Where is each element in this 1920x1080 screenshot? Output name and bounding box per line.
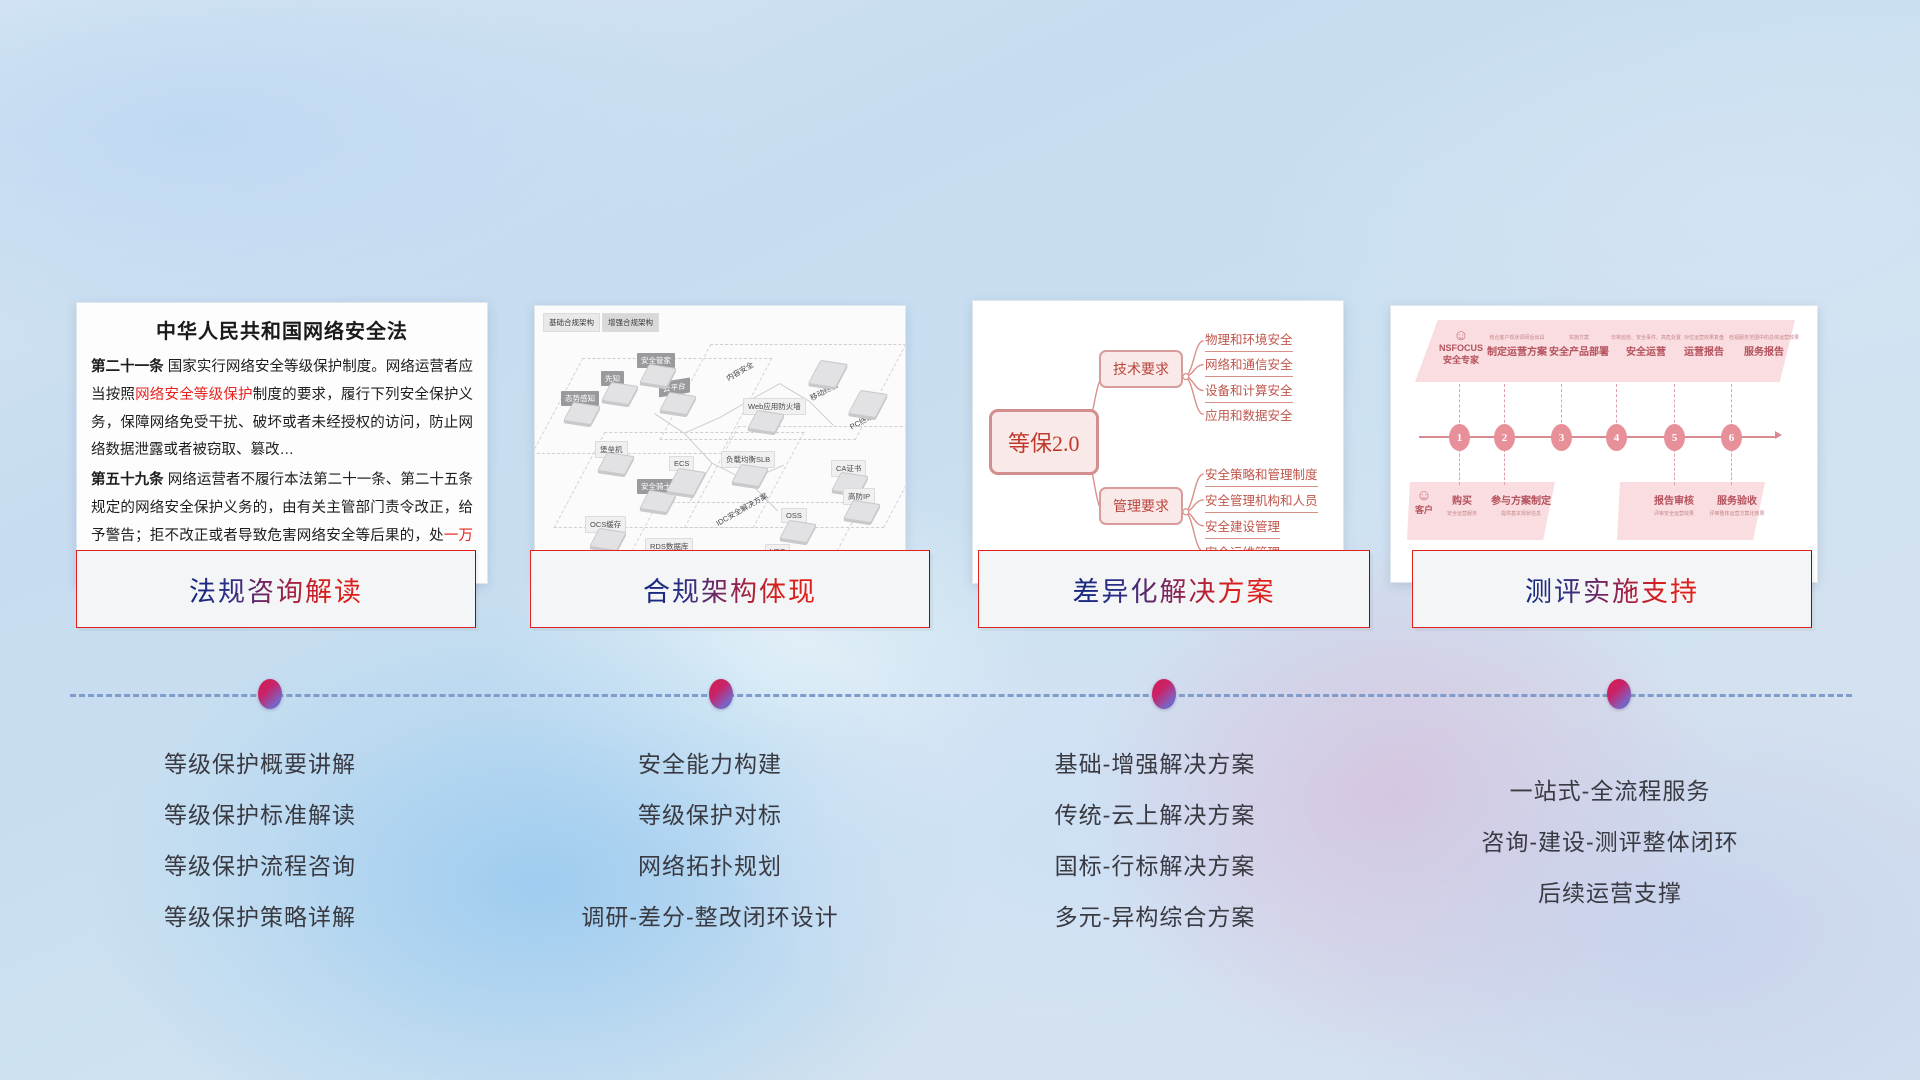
list-item: 等级保护对标	[520, 804, 900, 827]
heading-label-3: 差异化解决方案	[1073, 570, 1276, 609]
detail-column-1: 等级保护概要讲解 等级保护标准解读 等级保护流程咨询 等级保护策略详解	[80, 753, 440, 957]
list-item: 网络拓扑规划	[520, 855, 900, 878]
heading-label-4: 测评实施支持	[1525, 570, 1699, 609]
list-item: 传统-云上解决方案	[965, 804, 1345, 827]
list-item: 等级保护策略详解	[80, 906, 440, 929]
list-item: 后续运营支撑	[1405, 882, 1815, 905]
list-item: 一站式-全流程服务	[1405, 780, 1815, 803]
track-dot-3[interactable]	[1152, 679, 1176, 709]
list-item: 等级保护流程咨询	[80, 855, 440, 878]
timeline-dashed-track	[70, 694, 1852, 697]
list-item: 咨询-建设-测评整体闭环	[1405, 831, 1815, 854]
heading-box-regulation-consulting[interactable]: 法规咨询解读	[76, 550, 476, 628]
list-item: 等级保护标准解读	[80, 804, 440, 827]
track-dot-2[interactable]	[709, 679, 733, 709]
heading-box-differentiated-solution[interactable]: 差异化解决方案	[978, 550, 1370, 628]
track-dot-4[interactable]	[1607, 679, 1631, 709]
detail-column-2: 安全能力构建 等级保护对标 网络拓扑规划 调研-差分-整改闭环设计	[520, 753, 900, 957]
list-item: 基础-增强解决方案	[965, 753, 1345, 776]
heading-label-1: 法规咨询解读	[189, 570, 363, 609]
list-item: 安全能力构建	[520, 753, 900, 776]
heading-box-compliance-architecture[interactable]: 合规架构体现	[530, 550, 930, 628]
list-item: 多元-异构综合方案	[965, 906, 1345, 929]
list-item: 等级保护概要讲解	[80, 753, 440, 776]
detail-column-4: 一站式-全流程服务 咨询-建设-测评整体闭环 后续运营支撑	[1405, 780, 1815, 933]
track-dot-1[interactable]	[258, 679, 282, 709]
heading-box-assessment-support[interactable]: 测评实施支持	[1412, 550, 1812, 628]
list-item: 调研-差分-整改闭环设计	[520, 906, 900, 929]
detail-column-3: 基础-增强解决方案 传统-云上解决方案 国标-行标解决方案 多元-异构综合方案	[965, 753, 1345, 957]
list-item: 国标-行标解决方案	[965, 855, 1345, 878]
heading-label-2: 合规架构体现	[643, 570, 817, 609]
